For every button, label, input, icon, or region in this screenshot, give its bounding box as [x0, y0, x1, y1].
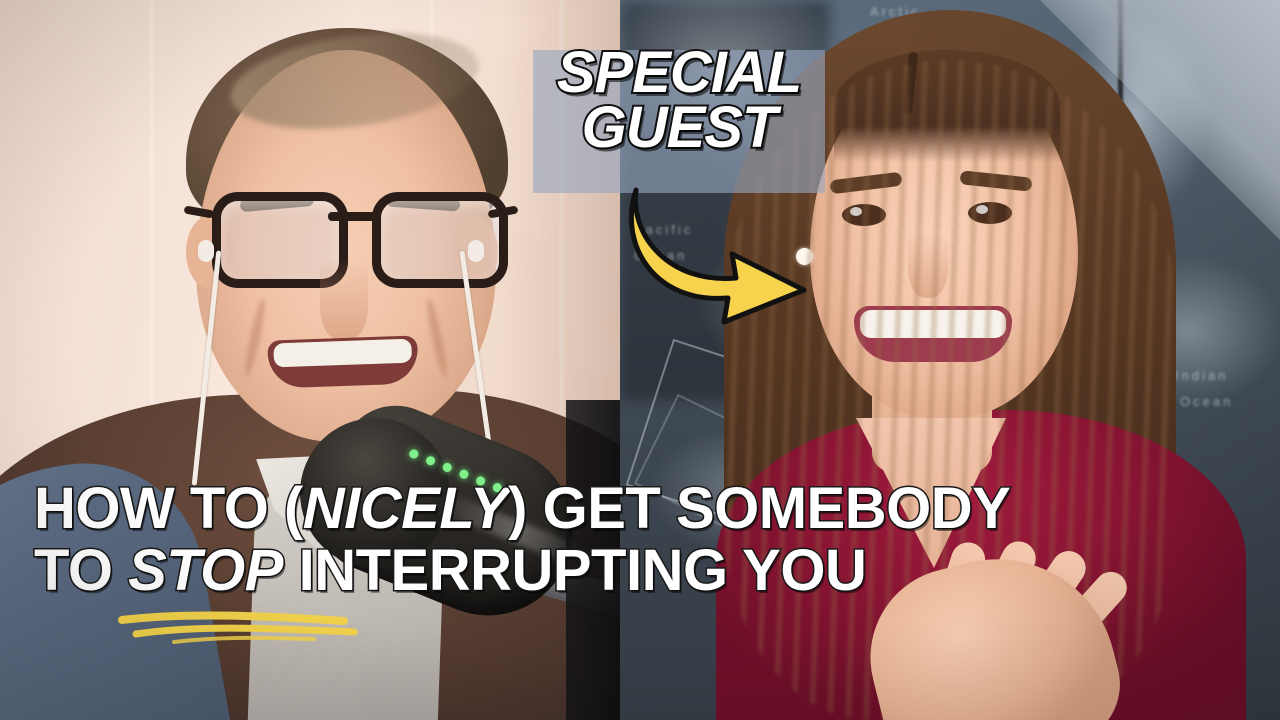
glasses-lens-right	[372, 192, 508, 288]
earbud-right-icon	[468, 240, 484, 262]
page-title: HOW TO (NICELY) GET SOMEBODY TO STOP INT…	[34, 478, 1234, 602]
title-part-4: INTERRUPTING YOU	[283, 538, 866, 603]
video-thumbnail: Arctic Pacific Ocean Indian Ocean SPECIA…	[0, 0, 1280, 720]
host-teeth	[273, 339, 412, 368]
title-emphasis-nicely: NICELY	[303, 476, 508, 541]
host-mouth	[267, 335, 419, 388]
title-part-3: TO	[34, 538, 128, 603]
curved-arrow-icon	[628, 186, 818, 326]
highlight-underline-icon	[118, 608, 358, 648]
map-label-indian: Indian	[1175, 368, 1228, 383]
title-part-1: HOW TO (	[34, 476, 303, 541]
glasses-bridge	[328, 212, 376, 221]
earbud-left-icon	[198, 240, 214, 262]
special-guest-label: SPECIAL GUEST	[533, 46, 825, 155]
host-nose	[320, 258, 368, 340]
title-part-2: ) GET SOMEBODY	[508, 476, 1010, 541]
title-emphasis-stop: STOP	[128, 538, 283, 603]
map-label-ocean-2: Ocean	[1180, 394, 1233, 409]
